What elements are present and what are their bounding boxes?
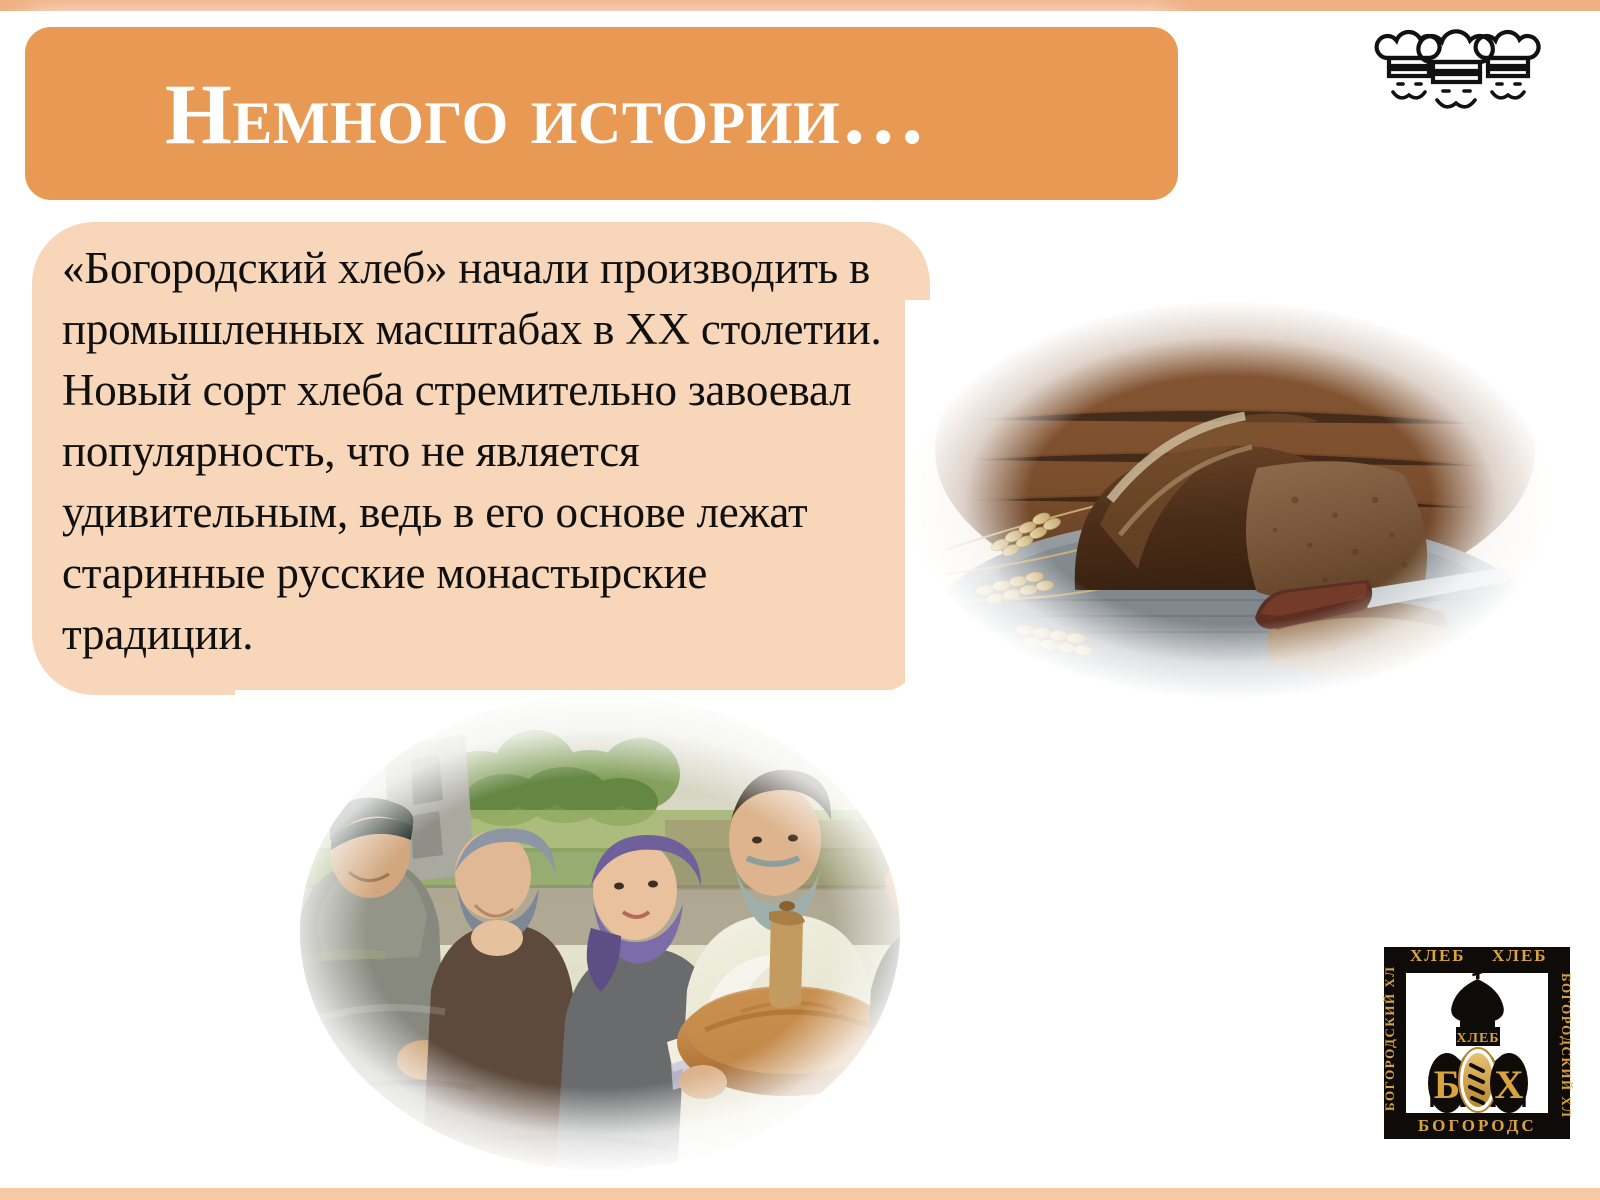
svg-text:ХЛЕБ: ХЛЕБ (1492, 946, 1548, 965)
bread-photo (905, 300, 1555, 700)
top-accent-strip (0, 0, 1600, 11)
body-paragraph: «Богородский хлеб» начали производить в … (62, 238, 907, 665)
svg-text:ХЛЕБ: ХЛЕБ (1410, 946, 1466, 965)
brand-logo: ХЛЕБ ХЛЕБ БОГОРОДСКИЙ БОГОРОДСКИЙ ХЛЕБ Б… (1372, 935, 1582, 1147)
painting-illustration (235, 690, 965, 1175)
bottom-accent-strip (0, 1188, 1600, 1200)
svg-text:Х: Х (1495, 1062, 1524, 1107)
page-title: Немного истории… (165, 68, 1165, 160)
svg-text:Б: Б (1434, 1062, 1460, 1107)
three-chef-hats-icon (1372, 24, 1544, 114)
svg-text:ХЛЕБ: ХЛЕБ (1456, 1031, 1499, 1046)
